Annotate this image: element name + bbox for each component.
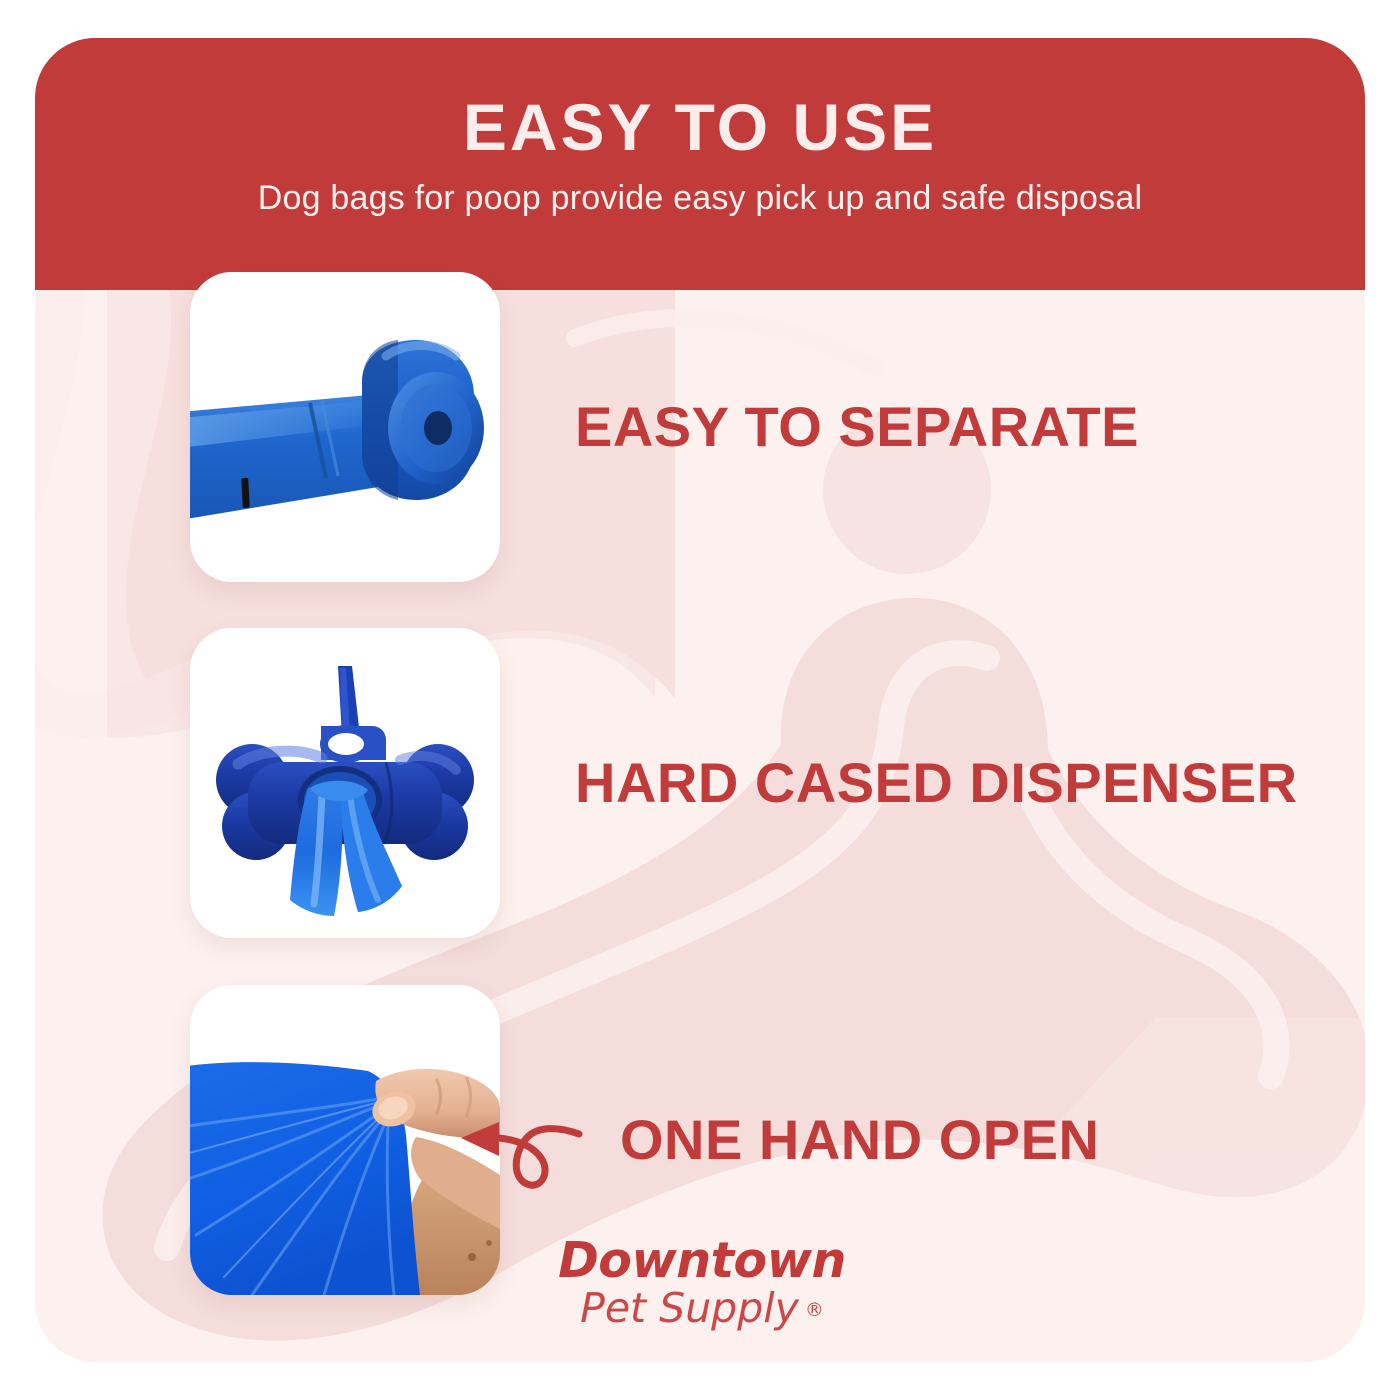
bone-shaped-dispenser-photo	[190, 628, 500, 938]
blue-poop-bag-roll-photo	[190, 272, 500, 582]
feature-label-hard-cased-dispenser: HARD CASED DISPENSER	[575, 755, 1298, 811]
hand-opening-bag-photo	[190, 985, 500, 1295]
header-banner: EASY TO USE Dog bags for poop provide ea…	[35, 38, 1365, 290]
curly-arrow-icon	[455, 1106, 585, 1196]
registered-trademark-icon: ®	[805, 1299, 824, 1321]
brand-logo-line2: Pet Supply	[580, 1284, 799, 1332]
page-title: EASY TO USE	[35, 94, 1365, 160]
page-subtitle: Dog bags for poop provide easy pick up a…	[35, 178, 1365, 219]
feature-row-easy-to-separate: EASY TO SEPARATE	[190, 272, 1139, 582]
feature-row-hard-cased-dispenser: HARD CASED DISPENSER	[190, 628, 1298, 938]
infographic-root: EASY TO USE Dog bags for poop provide ea…	[0, 0, 1400, 1400]
brand-logo-line2-row: Pet Supply®	[532, 1288, 872, 1330]
feature-label-easy-to-separate: EASY TO SEPARATE	[575, 399, 1139, 455]
brand-logo: Downtown Pet Supply®	[532, 1236, 872, 1344]
feature-label-one-hand-open: ONE HAND OPEN	[620, 1112, 1099, 1168]
brand-logo-line1: Downtown	[532, 1236, 872, 1286]
